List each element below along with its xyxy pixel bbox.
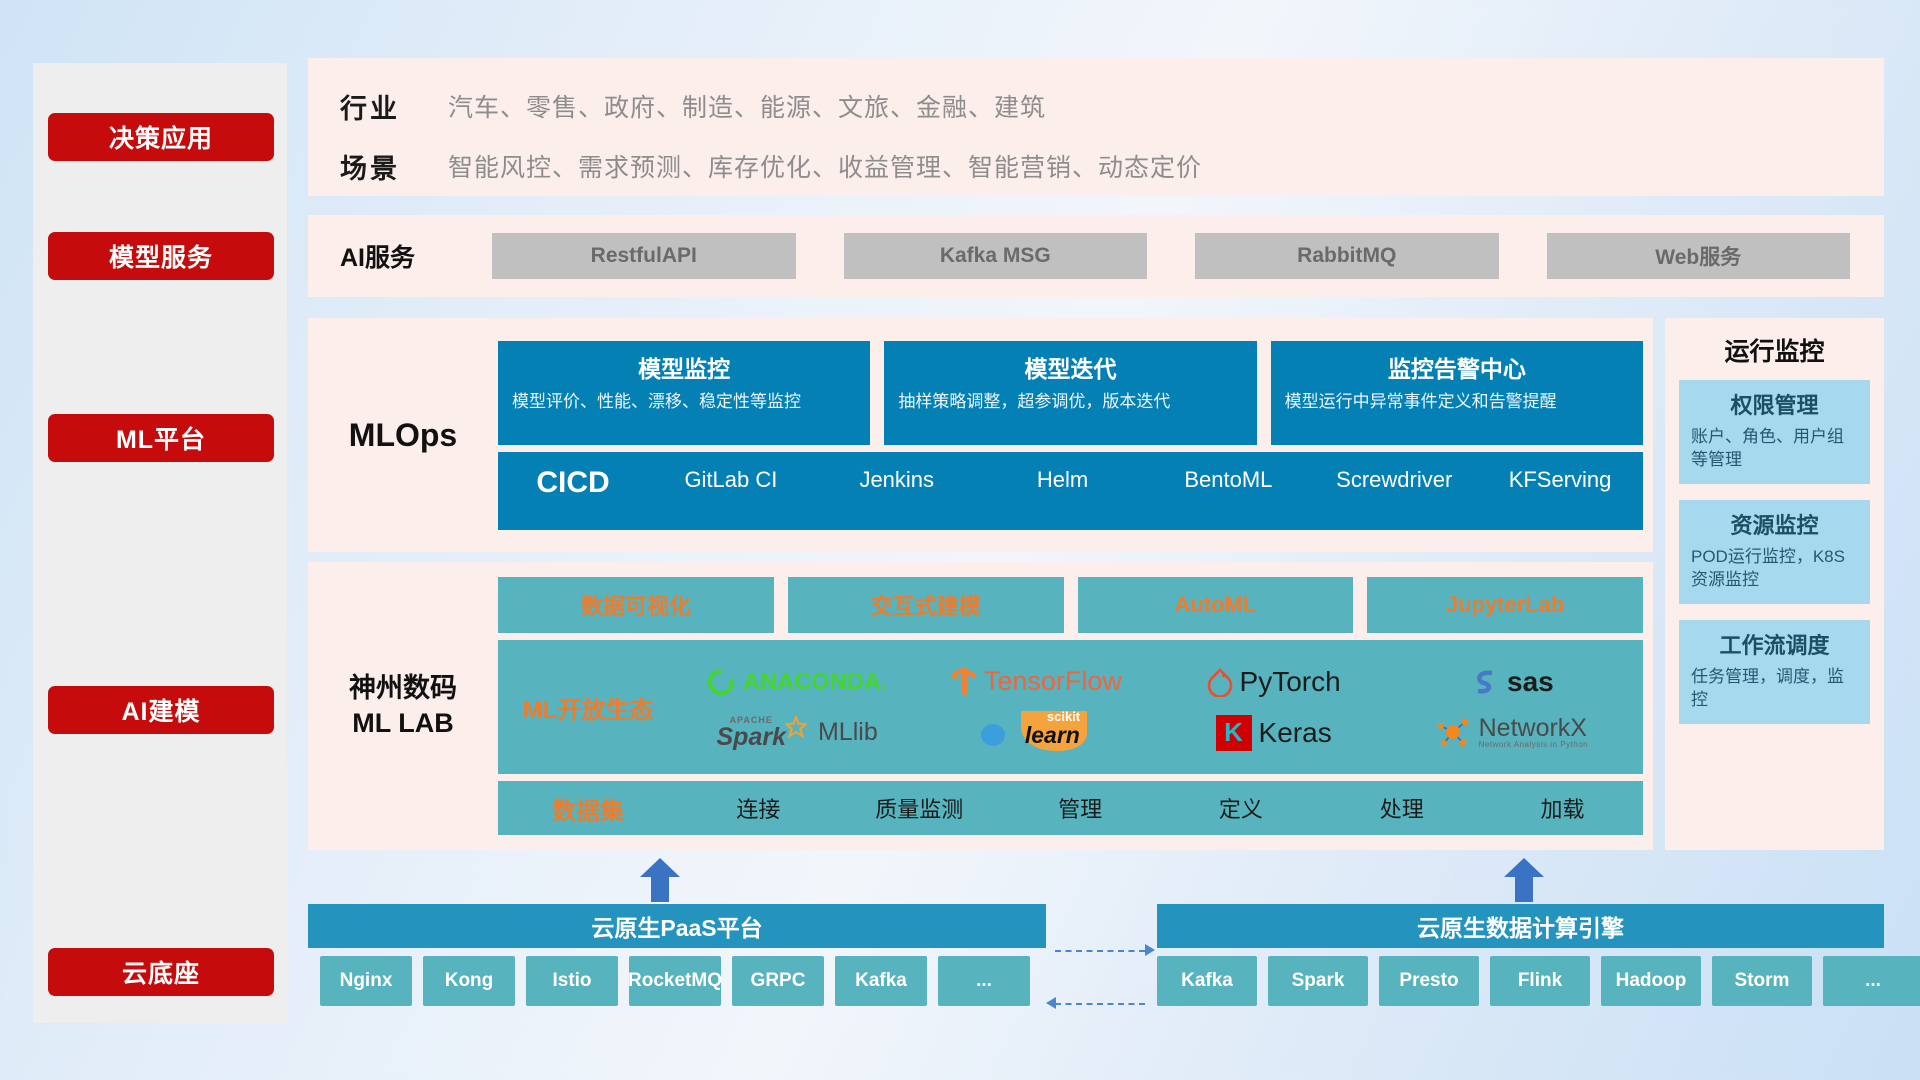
dataset-item-connect[interactable]: 连接 [678,792,839,824]
ml-lab-label-line1: 神州数码 [308,671,498,706]
pytorch-logo: PyTorch [1207,666,1341,698]
engine-chip-more[interactable]: ... [1823,956,1920,1006]
spark-star-icon [785,716,807,738]
mlops-card-desc: 模型运行中异常事件定义和告警提醒 [1285,391,1629,413]
mllib-wordmark: MLlib [818,718,878,747]
monitoring-card-desc: POD运行监控，K8S资源监控 [1691,546,1858,592]
monitoring-card-resource[interactable]: 资源监控 POD运行监控，K8S资源监控 [1679,500,1870,604]
modeling-content: 数据可视化 交互式建模 AutoML JupyterLab ML开放生态 ANA… [498,577,1653,835]
ml-open-ecosystem: ML开放生态 ANACONDA. TensorFlo [498,640,1643,774]
ml-open-ecosystem-label: ML开放生态 [498,690,678,725]
mlops-card-title: 监控告警中心 [1285,350,1629,384]
paas-chip-more[interactable]: ... [938,956,1030,1006]
tool-chip-interactive-modeling[interactable]: 交互式建模 [788,577,1064,633]
industry-row: 行业 汽车、零售、政府、制造、能源、文旅、金融、建筑 [308,76,1884,136]
tool-chip-jupyterlab[interactable]: JupyterLab [1367,577,1643,633]
cicd-item-bentoml[interactable]: BentoML [1145,466,1311,494]
mlops-card-model-iteration[interactable]: 模型迭代 抽样策略调整，超参调优，版本迭代 [884,341,1256,445]
tensorflow-mark-icon [949,666,977,698]
ai-service-chip-kafka-msg[interactable]: Kafka MSG [844,233,1148,279]
anaconda-wordmark: ANACONDA. [743,668,888,695]
monitoring-card-workflow[interactable]: 工作流调度 任务管理，调度，监控 [1679,620,1870,724]
engine-chip-presto[interactable]: Presto [1379,956,1479,1006]
networkx-tagline: Network Analysis in Python [1479,741,1589,749]
dashed-arrow-head-right [1145,944,1155,956]
networkx-wordmark: NetworkX [1479,716,1589,741]
paas-chip-rocketmq[interactable]: RocketMQ [629,956,721,1006]
monitoring-card-title: 资源监控 [1691,508,1858,540]
cloud-compute-engine-bar: 云原生数据计算引擎 [1157,904,1884,948]
keras-mark-icon: K [1216,715,1252,751]
dataset-item-manage[interactable]: 管理 [1000,792,1161,824]
mlops-card-list: 模型监控 模型评价、性能、漂移、稳定性等监控 模型迭代 抽样策略调整，超参调优，… [498,341,1643,445]
cicd-item-screwdriver[interactable]: Screwdriver [1311,466,1477,494]
ml-lab-label-line2: ML LAB [308,706,498,741]
tier-label-decision-app: 决策应用 [48,113,274,161]
engine-chip-kafka[interactable]: Kafka [1157,956,1257,1006]
engine-chip-flink[interactable]: Flink [1490,956,1590,1006]
ai-service-chip-restfulapi[interactable]: RestfulAPI [492,233,796,279]
cicd-bar: CICD GitLab CI Jenkins Helm BentoML Scre… [498,452,1643,530]
ai-service-label: AI服务 [308,238,468,274]
tool-chip-automl[interactable]: AutoML [1078,577,1354,633]
modeling-band: 神州数码 ML LAB 数据可视化 交互式建模 AutoML JupyterLa… [308,562,1653,850]
tier-label-model-service: 模型服务 [48,232,274,280]
architecture-diagram: 决策应用 模型服务 ML平台 AI建模 云底座 行业 汽车、零售、政府、制造、能… [0,0,1920,1080]
anaconda-mark-icon [706,667,736,697]
cicd-item-kfserving[interactable]: KFServing [1477,466,1643,494]
tensorflow-wordmark: TensorFlow [984,666,1122,697]
sas-wordmark: sas [1507,666,1554,698]
paas-chip-istio[interactable]: Istio [526,956,618,1006]
cicd-item-gitlab-ci[interactable]: GitLab CI [648,466,814,494]
tool-chip-data-visualization[interactable]: 数据可视化 [498,577,774,633]
anaconda-logo: ANACONDA. [706,667,888,697]
arrow-up-paas [640,858,680,902]
scenario-key: 场景 [308,147,448,186]
application-band: 行业 汽车、零售、政府、制造、能源、文旅、金融、建筑 场景 智能风控、需求预测、… [308,58,1884,196]
dashed-connector-right [1055,950,1145,952]
industry-value: 汽车、零售、政府、制造、能源、文旅、金融、建筑 [448,88,1046,124]
cicd-title: CICD [498,466,648,500]
compute-engine-chip-list: Kafka Spark Presto Flink Hadoop Storm ..… [1157,956,1920,1006]
engine-chip-storm[interactable]: Storm [1712,956,1812,1006]
spark-mllib-logo: APACHE Spark MLlib [717,716,878,750]
monitoring-card-desc: 任务管理，调度，监控 [1691,666,1858,712]
tier-label-cloud-base: 云底座 [48,948,274,996]
ecosystem-logo-grid: ANACONDA. TensorFlow [678,656,1643,758]
dataset-title: 数据集 [498,791,678,826]
monitoring-card-title: 工作流调度 [1691,628,1858,660]
paas-chip-nginx[interactable]: Nginx [320,956,412,1006]
scenario-value: 智能风控、需求预测、库存优化、收益管理、智能营销、动态定价 [448,148,1202,184]
ai-service-chip-web-service[interactable]: Web服务 [1547,233,1851,279]
modeling-tool-list: 数据可视化 交互式建模 AutoML JupyterLab [498,577,1643,633]
pytorch-flame-icon [1207,667,1233,697]
learn-word: learn [1025,722,1080,749]
paas-chip-kong[interactable]: Kong [423,956,515,1006]
mlops-card-alert-center[interactable]: 监控告警中心 模型运行中异常事件定义和告警提醒 [1271,341,1643,445]
keras-wordmark: Keras [1259,717,1332,749]
ai-service-chip-list: RestfulAPI Kafka MSG RabbitMQ Web服务 [468,233,1884,279]
mlops-card-model-monitoring[interactable]: 模型监控 模型评价、性能、漂移、稳定性等监控 [498,341,870,445]
monitoring-card-permission[interactable]: 权限管理 账户、角色、用户组等管理 [1679,380,1870,484]
keras-logo: K Keras [1216,715,1332,751]
dashed-arrow-head-left [1046,997,1056,1009]
engine-chip-spark[interactable]: Spark [1268,956,1368,1006]
pytorch-wordmark: PyTorch [1240,666,1341,698]
spark-wordmark: Spark [717,725,786,750]
industry-key: 行业 [308,87,448,126]
mlops-card-desc: 模型评价、性能、漂移、稳定性等监控 [512,391,856,413]
sas-mark-icon [1470,667,1500,697]
cicd-item-helm[interactable]: Helm [980,466,1146,494]
runtime-monitoring-band: 运行监控 权限管理 账户、角色、用户组等管理 资源监控 POD运行监控，K8S资… [1665,318,1884,850]
dashed-connector-left [1055,1003,1145,1005]
paas-chip-kafka[interactable]: Kafka [835,956,927,1006]
keras-k-letter: K [1224,717,1243,748]
arrow-up-compute-engine [1504,858,1544,902]
tier-label-ml-platform: ML平台 [48,414,274,462]
mlops-card-title: 模型监控 [512,350,856,384]
mlops-label: MLOps [308,417,498,454]
mlops-card-desc: 抽样策略调整，超参调优，版本迭代 [898,391,1242,413]
tier-rail [33,63,287,1023]
cicd-item-jenkins[interactable]: Jenkins [814,466,980,494]
paas-chip-list: Nginx Kong Istio RocketMQ GRPC Kafka ... [320,956,1030,1006]
dataset-row: 数据集 连接 质量监测 管理 定义 处理 加载 [498,781,1643,835]
ai-service-chip-rabbitmq[interactable]: RabbitMQ [1195,233,1499,279]
cloud-paas-bar: 云原生PaaS平台 [308,904,1046,948]
monitoring-card-desc: 账户、角色、用户组等管理 [1691,426,1858,472]
networkx-logo: NetworkX Network Analysis in Python [1436,716,1589,750]
mlops-band: MLOps 模型监控 模型评价、性能、漂移、稳定性等监控 模型迭代 抽样策略调整… [308,318,1653,552]
mlops-content: 模型监控 模型评价、性能、漂移、稳定性等监控 模型迭代 抽样策略调整，超参调优，… [498,341,1653,530]
paas-chip-grpc[interactable]: GRPC [732,956,824,1006]
ml-lab-label: 神州数码 ML LAB [308,671,498,741]
dataset-item-process[interactable]: 处理 [1321,792,1482,824]
networkx-graph-icon [1436,716,1472,750]
tensorflow-logo: TensorFlow [949,666,1122,698]
dataset-item-load[interactable]: 加载 [1482,792,1643,824]
scenario-row: 场景 智能风控、需求预测、库存优化、收益管理、智能营销、动态定价 [308,136,1884,196]
sas-logo: sas [1470,666,1554,698]
scikit-learn-logo: scikit learn [980,707,1091,758]
ai-service-band: AI服务 RestfulAPI Kafka MSG RabbitMQ Web服务 [308,215,1884,297]
monitoring-card-title: 权限管理 [1691,388,1858,420]
runtime-monitoring-title: 运行监控 [1665,318,1884,380]
mlops-card-title: 模型迭代 [898,350,1242,384]
dataset-item-quality-monitor[interactable]: 质量监测 [839,792,1000,824]
dataset-item-define[interactable]: 定义 [1160,792,1321,824]
engine-chip-hadoop[interactable]: Hadoop [1601,956,1701,1006]
tier-label-ai-modeling: AI建模 [48,686,274,734]
